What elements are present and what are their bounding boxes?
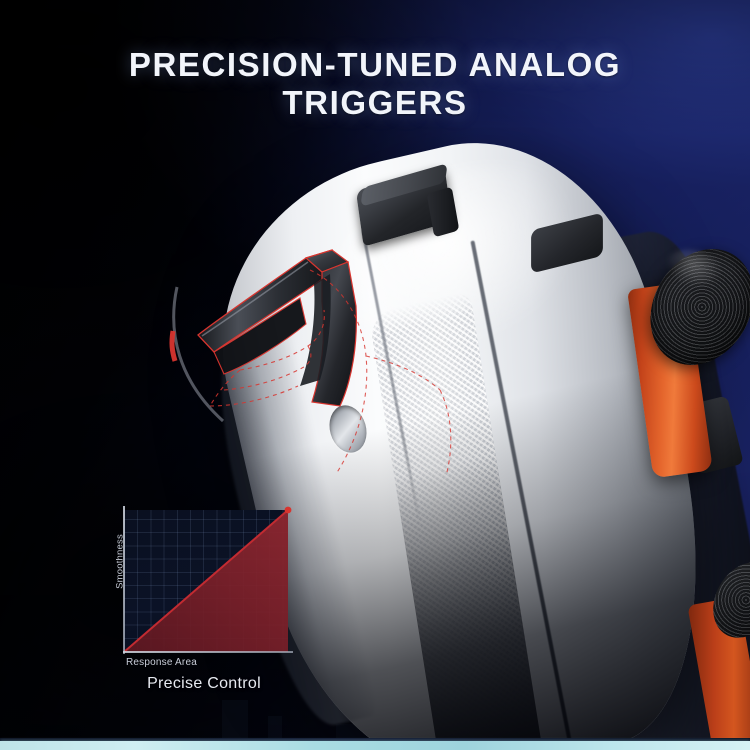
chart-x-axis bbox=[123, 651, 293, 653]
chart-caption: Precise Control bbox=[104, 675, 304, 693]
chart-peak-marker bbox=[124, 510, 288, 652]
bottom-accent-band bbox=[0, 741, 750, 750]
product-feature-banner: PRECISION-TUNED ANALOG TRIGGERS bbox=[0, 0, 750, 750]
chart-y-axis-label: Smoothness bbox=[115, 522, 126, 602]
chart-x-axis-label: Response Area bbox=[126, 657, 197, 668]
shell-dashed-outline bbox=[300, 250, 520, 510]
response-chart: Smoothness Response Area Precise Control bbox=[104, 500, 304, 700]
